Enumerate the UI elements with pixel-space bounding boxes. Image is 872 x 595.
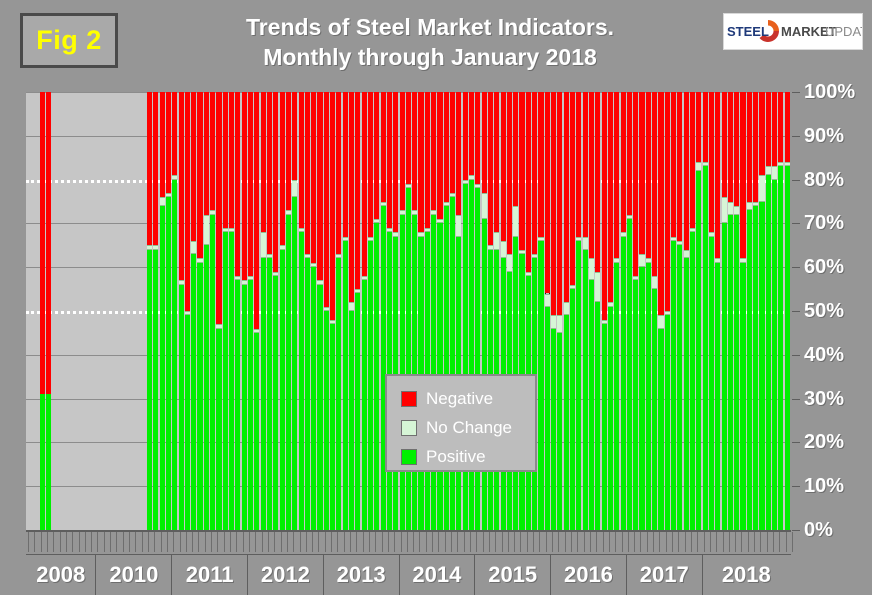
x-axis-month-tick [729, 532, 730, 552]
x-axis-month-tick [173, 532, 174, 552]
bar-segment-negative [722, 92, 727, 197]
legend-item-no-change: No Change [401, 413, 535, 442]
bar-segment-positive [311, 267, 316, 530]
x-axis-month-tick [767, 532, 768, 552]
bar-segment-positive [658, 329, 663, 530]
bar-segment-no-change [273, 272, 278, 276]
chart-legend: Negative No Change Positive [385, 374, 537, 472]
bar-segment-no-change [393, 232, 398, 236]
y-axis-label-0: 0% [804, 520, 833, 540]
x-axis-month-tick [306, 532, 307, 552]
y-tick-0 [792, 530, 800, 531]
x-axis-month-tick [142, 532, 143, 552]
bar-segment-positive [450, 197, 455, 530]
bar-segment-positive [602, 324, 607, 530]
bar-segment-negative [191, 92, 196, 241]
bar-2016-05 [658, 92, 663, 530]
bar-2012-01 [330, 92, 335, 530]
bar-segment-no-change [469, 175, 474, 179]
x-axis-month-tick [546, 532, 547, 552]
bar-segment-no-change [703, 162, 708, 166]
page-title: Trends of Steel Market Indicators. Month… [150, 12, 710, 72]
bar-segment-negative [431, 92, 436, 210]
bar-segment-negative [570, 92, 575, 285]
x-axis-year-label: 2015 [488, 564, 537, 586]
bar-segment-negative [179, 92, 184, 280]
bar-segment-no-change [646, 258, 651, 262]
bar-segment-positive [147, 250, 152, 530]
bar-segment-no-change [772, 166, 777, 179]
bar-segment-no-change [343, 237, 348, 241]
bar-segment-negative [160, 92, 165, 197]
bar-segment-negative [46, 92, 51, 394]
bar-segment-positive [551, 329, 556, 530]
bar-segment-negative [204, 92, 209, 215]
bar-segment-positive [608, 307, 613, 530]
bar-segment-negative [564, 92, 569, 302]
x-axis-month-tick [60, 532, 61, 552]
bar-segment-negative [273, 92, 278, 272]
x-axis-month-tick [243, 532, 244, 552]
bar-segment-no-change [778, 162, 783, 166]
bar-segment-positive [248, 280, 253, 530]
bar-segment-positive [475, 188, 480, 530]
bar-2016-08 [677, 92, 682, 530]
x-axis-month-tick [584, 532, 585, 552]
logo-word-steel: STEEL [727, 24, 769, 39]
bar-segment-positive [538, 241, 543, 530]
bar-2011-01 [254, 92, 259, 530]
bar-2012-06 [362, 92, 367, 530]
bar-segment-negative [709, 92, 714, 232]
bar-segment-negative [317, 92, 322, 280]
bar-segment-negative [772, 92, 777, 166]
bar-segment-negative [355, 92, 360, 289]
y-axis-label-30: 30% [804, 389, 844, 409]
logo-word-update: UPDATE [825, 24, 862, 39]
x-axis-month-tick [697, 532, 698, 552]
bar-segment-no-change [172, 175, 177, 179]
bar-segment-negative [513, 92, 518, 206]
bar-segment-positive [703, 166, 708, 530]
y-tick-30 [792, 399, 800, 400]
x-axis-month-tick [678, 532, 679, 552]
bar-2017-04 [728, 92, 733, 530]
bar-segment-no-change [330, 320, 335, 324]
bar-2015-09 [608, 92, 613, 530]
x-axis-month-tick [685, 532, 686, 552]
bar-segment-negative [400, 92, 405, 210]
x-axis-month-tick [337, 532, 338, 552]
bar-segment-negative [261, 92, 266, 232]
bar-2017-01 [709, 92, 714, 530]
bar-segment-positive [557, 333, 562, 530]
x-axis-month-tick [186, 532, 187, 552]
bar-segment-positive [614, 263, 619, 530]
bar-segment-negative [785, 92, 790, 162]
bar-segment-no-change [513, 206, 518, 237]
bar-segment-positive [722, 223, 727, 530]
x-axis-month-tick [281, 532, 282, 552]
x-axis-month-tick [773, 532, 774, 552]
x-axis-month-tick [792, 532, 793, 552]
y-axis-label-40: 40% [804, 345, 844, 365]
bar-segment-no-change [191, 241, 196, 254]
bar-segment-negative [576, 92, 581, 237]
bar-segment-negative [715, 92, 720, 258]
bar-segment-negative [153, 92, 158, 245]
bar-2016-12 [703, 92, 708, 530]
x-axis-month-tick [527, 532, 528, 552]
bar-2012-04 [349, 92, 354, 530]
bar-segment-negative [299, 92, 304, 228]
x-axis-month-tick [413, 532, 414, 552]
bar-2010-04 [197, 92, 202, 530]
bar-segment-negative [324, 92, 329, 307]
x-axis-year-cell-2013: 2013 [323, 555, 399, 595]
x-axis-month-tick [249, 532, 250, 552]
bar-segment-negative [381, 92, 386, 202]
x-axis-month-tick [451, 532, 452, 552]
bar-2012-03 [343, 92, 348, 530]
bar-2014-11 [545, 92, 550, 530]
x-axis-month-tick [110, 532, 111, 552]
bar-segment-no-change [254, 329, 259, 333]
bar-segment-negative [488, 92, 493, 245]
bar-segment-positive [627, 219, 632, 530]
bar-segment-negative [418, 92, 423, 232]
bar-segment-negative [463, 92, 468, 180]
bar-2015-08 [602, 92, 607, 530]
x-axis-month-tick [224, 532, 225, 552]
bar-segment-positive [734, 215, 739, 530]
bar-2017-02 [715, 92, 720, 530]
bar-2009-12 [172, 92, 177, 530]
bar-2011-03 [267, 92, 272, 530]
bar-segment-positive [576, 241, 581, 530]
bar-segment-positive [633, 280, 638, 530]
bar-segment-negative [292, 92, 297, 180]
x-axis-month-tick [350, 532, 351, 552]
bar-segment-positive [336, 258, 341, 530]
x-axis-month-tick [672, 532, 673, 552]
bar-segment-negative [526, 92, 531, 272]
bar-2012-05 [355, 92, 360, 530]
x-axis-month-tick [640, 532, 641, 552]
bar-2011-10 [311, 92, 316, 530]
x-axis-year-label: 2010 [109, 564, 158, 586]
bar-segment-positive [204, 245, 209, 530]
x-axis-month-tick [116, 532, 117, 552]
x-axis-year-cell-2016: 2016 [550, 555, 626, 595]
bar-segment-no-change [153, 245, 158, 249]
bar-segment-positive [261, 258, 266, 530]
y-axis-label-20: 20% [804, 432, 844, 452]
x-axis-month-tick [558, 532, 559, 552]
bar-2012-02 [336, 92, 341, 530]
bar-2011-06 [286, 92, 291, 530]
bar-segment-positive [216, 329, 221, 530]
bar-segment-positive [690, 232, 695, 530]
bar-segment-positive [46, 394, 51, 530]
bar-segment-no-change [418, 232, 423, 236]
bar-segment-positive [40, 394, 45, 530]
x-axis-month-tick [754, 532, 755, 552]
bar-2009-10 [160, 92, 165, 530]
bar-segment-negative [40, 92, 45, 394]
bar-segment-no-change [204, 215, 209, 246]
bar-segment-no-change [242, 280, 247, 284]
bar-segment-no-change [147, 245, 152, 249]
bar-2008-03 [40, 92, 45, 530]
bar-segment-no-change [248, 276, 253, 280]
x-axis-month-tick [603, 532, 604, 552]
x-axis-month-tick [205, 532, 206, 552]
y-tick-40 [792, 355, 800, 356]
bar-segment-no-change [538, 237, 543, 241]
bar-segment-positive [684, 258, 689, 530]
x-axis-month-tick [211, 532, 212, 552]
bar-segment-positive [160, 206, 165, 530]
bar-2011-08 [299, 92, 304, 530]
bar-segment-negative [482, 92, 487, 193]
bar-segment-positive [772, 180, 777, 530]
bar-segment-negative [696, 92, 701, 162]
bar-segment-no-change [387, 228, 392, 232]
bar-segment-no-change [595, 272, 600, 303]
bar-segment-positive [267, 258, 272, 530]
x-axis-month-tick [53, 532, 54, 552]
bar-2010-07 [216, 92, 221, 530]
x-axis-month-tick [741, 532, 742, 552]
x-axis-month-tick [634, 532, 635, 552]
bar-2010-02 [185, 92, 190, 530]
bar-2012-07 [368, 92, 373, 530]
bar-2016-10 [690, 92, 695, 530]
bar-segment-no-change [583, 237, 588, 250]
bar-segment-no-change [437, 219, 442, 223]
legend-item-negative: Negative [401, 384, 535, 413]
bar-segment-positive [305, 258, 310, 530]
bar-2017-06 [740, 92, 745, 530]
bar-segment-negative [444, 92, 449, 202]
bar-segment-no-change [652, 276, 657, 289]
y-axis-label-80: 80% [804, 170, 844, 190]
bar-segment-negative [621, 92, 626, 232]
bar-segment-no-change [665, 311, 670, 315]
bar-segment-negative [475, 92, 480, 184]
x-axis-month-tick [91, 532, 92, 552]
bar-segment-negative [734, 92, 739, 206]
legend-item-positive: Positive [401, 442, 535, 471]
x-axis-month-tick [748, 532, 749, 552]
x-axis-month-tick [344, 532, 345, 552]
bar-segment-negative [690, 92, 695, 228]
bar-2016-02 [639, 92, 644, 530]
bar-segment-no-change [197, 258, 202, 262]
x-axis-month-tick [710, 532, 711, 552]
bar-2017-08 [753, 92, 758, 530]
bar-segment-no-change [602, 320, 607, 324]
bar-segment-negative [728, 92, 733, 202]
bar-segment-no-change [374, 219, 379, 223]
bar-segment-no-change [267, 254, 272, 258]
bar-segment-no-change [747, 202, 752, 211]
bar-2010-12 [248, 92, 253, 530]
bar-segment-no-change [349, 302, 354, 311]
x-axis-month-tick [647, 532, 648, 552]
bar-segment-no-change [223, 228, 228, 232]
bar-segment-negative [766, 92, 771, 166]
x-axis-month-tick [596, 532, 597, 552]
x-axis-month-tick [198, 532, 199, 552]
bar-segment-positive [191, 254, 196, 530]
bar-2015-03 [570, 92, 575, 530]
bar-segment-positive [747, 210, 752, 530]
x-axis-month-tick [577, 532, 578, 552]
x-axis-month-tick [716, 532, 717, 552]
bar-2016-06 [665, 92, 670, 530]
bar-segment-positive [254, 333, 259, 530]
x-axis-month-tick [445, 532, 446, 552]
bar-segment-positive [595, 302, 600, 530]
bar-segment-negative [627, 92, 632, 215]
x-axis-month-tick [255, 532, 256, 552]
chart-header: Fig 2 Trends of Steel Market Indicators.… [0, 0, 872, 88]
x-axis-month-tick [533, 532, 534, 552]
x-axis-month-tick [565, 532, 566, 552]
bar-segment-no-change [684, 250, 689, 259]
bar-2016-07 [671, 92, 676, 530]
bar-2015-11 [621, 92, 626, 530]
bar-segment-negative [494, 92, 499, 232]
bar-2011-02 [261, 92, 266, 530]
bar-segment-negative [349, 92, 354, 302]
x-axis-year-label: 2011 [186, 564, 234, 586]
x-axis-month-tick [514, 532, 515, 552]
x-axis-month-tick [312, 532, 313, 552]
bar-segment-no-change [210, 210, 215, 214]
bar-segment-negative [305, 92, 310, 254]
bar-segment-no-change [639, 254, 644, 267]
bar-segment-negative [753, 92, 758, 202]
bar-segment-no-change [557, 315, 562, 333]
bar-segment-positive [696, 171, 701, 530]
y-tick-50 [792, 311, 800, 312]
x-axis-year-label: 2018 [722, 564, 771, 586]
bar-segment-no-change [753, 202, 758, 206]
x-axis-month-tick [230, 532, 231, 552]
bar-2017-11 [772, 92, 777, 530]
x-axis-month-tick [723, 532, 724, 552]
bar-segment-negative [185, 92, 190, 311]
bar-2017-09 [759, 92, 764, 530]
bar-segment-positive [412, 215, 417, 530]
y-axis-label-70: 70% [804, 213, 844, 233]
bar-segment-negative [532, 92, 537, 254]
x-axis-month-tick [318, 532, 319, 552]
x-axis-year-cell-2010: 2010 [95, 555, 171, 595]
bar-segment-positive [317, 285, 322, 530]
bar-segment-no-change [722, 197, 727, 223]
x-axis-month-tick [653, 532, 654, 552]
x-axis-year-cell-2012: 2012 [247, 555, 323, 595]
bar-2017-07 [747, 92, 752, 530]
bar-segment-negative [336, 92, 341, 254]
bar-segment-negative [437, 92, 442, 219]
bar-segment-positive [406, 188, 411, 530]
bar-2018-01 [785, 92, 790, 530]
figure-tag-box: Fig 2 [20, 13, 118, 68]
x-axis-month-tick [735, 532, 736, 552]
bar-2014-12 [551, 92, 556, 530]
x-axis-ticks [26, 532, 790, 554]
bar-segment-negative [589, 92, 594, 258]
x-axis-month-tick [369, 532, 370, 552]
bar-segment-no-change [362, 276, 367, 280]
x-axis-month-tick [293, 532, 294, 552]
bar-segment-positive [368, 241, 373, 530]
bar-2017-10 [766, 92, 771, 530]
x-axis-month-tick [274, 532, 275, 552]
x-axis-month-tick [47, 532, 48, 552]
bar-segment-negative [210, 92, 215, 210]
bar-2015-01 [557, 92, 562, 530]
bar-segment-negative [311, 92, 316, 263]
x-axis-month-tick [464, 532, 465, 552]
bar-segment-positive [299, 232, 304, 530]
bar-segment-positive [665, 315, 670, 530]
x-axis-month-tick [72, 532, 73, 552]
bar-2011-12 [324, 92, 329, 530]
bar-segment-negative [469, 92, 474, 175]
x-axis-month-tick [97, 532, 98, 552]
bar-2015-07 [595, 92, 600, 530]
x-axis-month-tick [123, 532, 124, 552]
x-axis-month-tick [628, 532, 629, 552]
bar-segment-positive [463, 184, 468, 530]
bar-2016-04 [652, 92, 657, 530]
bar-segment-negative [671, 92, 676, 237]
bar-segment-no-change [570, 285, 575, 289]
bar-segment-negative [677, 92, 682, 241]
bar-segment-negative [330, 92, 335, 320]
bar-segment-negative [703, 92, 708, 162]
bar-segment-positive [280, 250, 285, 530]
bar-segment-no-change [216, 324, 221, 328]
bar-segment-positive [753, 206, 758, 530]
bar-segment-no-change [627, 215, 632, 219]
y-tick-80 [792, 180, 800, 181]
bar-2010-06 [210, 92, 215, 530]
bar-segment-no-change [475, 184, 480, 188]
y-axis-label-60: 60% [804, 257, 844, 277]
bar-segment-no-change [444, 202, 449, 206]
bar-segment-negative [286, 92, 291, 210]
bar-segment-no-change [463, 180, 468, 184]
bar-segment-no-change [633, 276, 638, 280]
x-axis-month-tick [154, 532, 155, 552]
bar-segment-no-change [235, 276, 240, 280]
legend-label-no-change: No Change [426, 419, 512, 436]
x-axis-year-label: 2016 [564, 564, 613, 586]
x-axis-month-tick [495, 532, 496, 552]
bar-segment-negative [374, 92, 379, 219]
x-axis-month-tick [217, 532, 218, 552]
bar-segment-negative [248, 92, 253, 276]
bar-segment-positive [709, 237, 714, 530]
bar-segment-no-change [715, 258, 720, 262]
